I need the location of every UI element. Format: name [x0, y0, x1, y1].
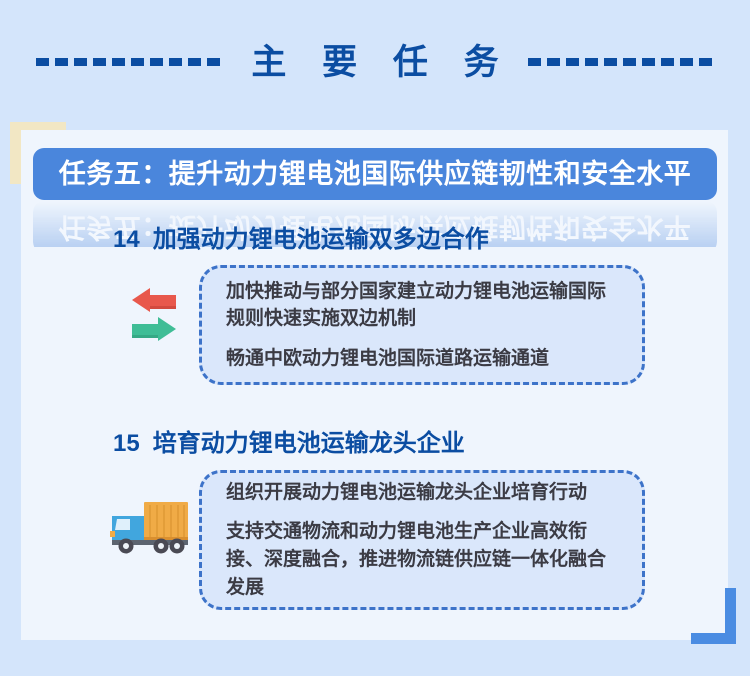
section-number-14: 14	[113, 226, 140, 253]
section-title-14: 14加强动力锂电池运输双多边合作	[113, 228, 489, 252]
task-banner: 任务五：提升动力锂电池国际供应链韧性和安全水平	[33, 148, 717, 200]
header-dashed-line-left	[36, 58, 222, 66]
section-heading-15: 培育动力锂电池运输龙头企业	[153, 430, 465, 457]
task-banner-title: 任务五：提升动力锂电池国际供应链韧性和安全水平	[59, 161, 692, 188]
task-banner-body: 任务五：提升动力锂电池国际供应链韧性和安全水平	[33, 148, 717, 200]
truck-headlight	[110, 531, 115, 537]
content-line: 组织开展动力锂电池运输龙头企业培育行动	[226, 479, 620, 507]
truck-wheel-hub	[123, 543, 129, 549]
section-number-15: 15	[113, 430, 140, 457]
page-title: 主 要 任 务	[238, 45, 511, 80]
truck-wheel-hub	[174, 543, 180, 549]
header: 主 要 任 务	[0, 36, 750, 88]
section-heading-14: 加强动力锂电池运输双多边合作	[153, 226, 489, 253]
content-line: 畅通中欧动力锂电池国际道路运输通道	[226, 345, 620, 373]
truck-window	[115, 519, 130, 530]
section-title-15: 15培育动力锂电池运输龙头企业	[113, 432, 465, 456]
arrow-right-shadow	[132, 335, 158, 338]
two-way-arrows-icon	[112, 287, 196, 347]
infographic-page: 主 要 任 务 任务五：提升动力锂电池国际供应链韧性和安全水平 任务五：提升动力…	[0, 0, 750, 676]
corner-bracket-decoration	[691, 588, 736, 644]
content-box-14: 加快推动与部分国家建立动力锂电池运输国际规则快速实施双边机制 畅通中欧动力锂电池…	[199, 265, 645, 385]
truck-wheel-hub	[158, 543, 164, 549]
truck-icon	[106, 497, 192, 555]
content-line: 支持交通物流和动力锂电池生产企业高效衔接、深度融合，推进物流链供应链一体化融合发…	[226, 518, 620, 601]
content-line: 加快推动与部分国家建立动力锂电池运输国际规则快速实施双边机制	[226, 278, 620, 333]
header-dashed-line-right	[528, 58, 714, 66]
arrow-left-shadow	[150, 306, 176, 309]
content-box-15: 组织开展动力锂电池运输龙头企业培育行动 支持交通物流和动力锂电池生产企业高效衔接…	[199, 470, 645, 610]
